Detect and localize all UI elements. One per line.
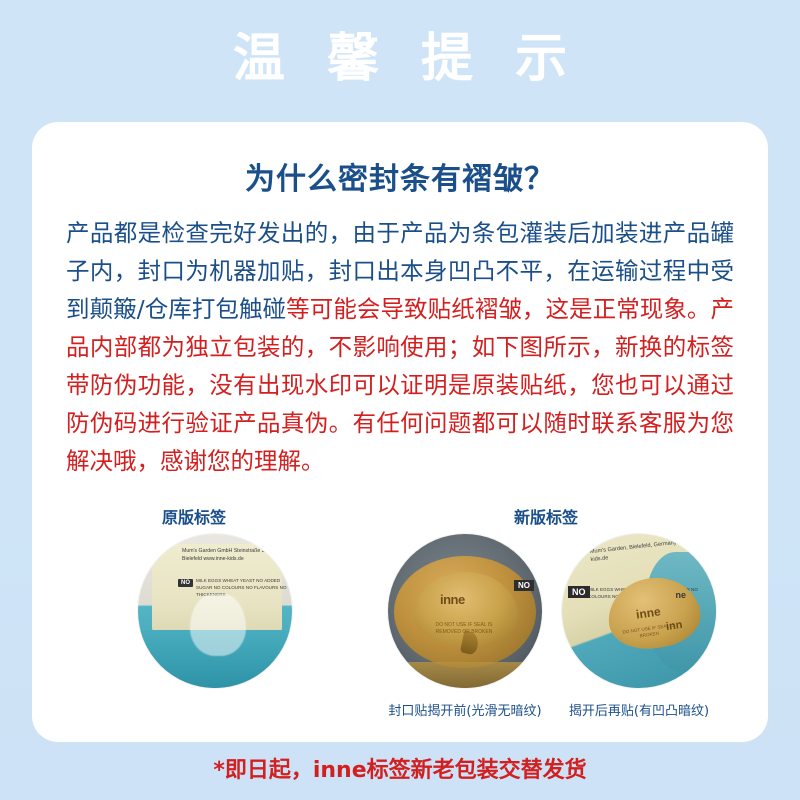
info-card: 为什么密封条有褶皱？ 产品都是检查完好发出的，由于产品为条包灌装后加装进产品罐子…	[32, 122, 768, 742]
photo-after-ne-text: ne	[675, 590, 686, 600]
photo-old-brand-text: Mum's Garden GmbH Steinstraße 21 86167 B…	[182, 548, 292, 564]
photo-seal-no-badge: NO	[514, 580, 534, 591]
card-body: 产品都是检查完好发出的，由于产品为条包灌装后加装进产品罐子内，封口为机器加贴，封…	[58, 214, 742, 480]
label-old-version: 原版标签	[162, 504, 226, 528]
footer-note: *即日起，inne标签新老包装交替发货	[0, 752, 800, 784]
card-title: 为什么密封条有褶皱？	[58, 154, 742, 198]
label-new-version: 新版标签	[514, 504, 578, 528]
photo-old-plastic-film	[190, 594, 246, 656]
photo-comparison: 原版标签 新版标签 Mum's Garden GmbH Steinstraße …	[58, 504, 742, 734]
photo-seal-brand: inne	[440, 592, 465, 607]
caption-seal-after: 揭开后再贴(有凹凸暗纹)	[539, 700, 739, 719]
page-title: 温 馨 提 示	[0, 30, 800, 90]
promo-page: 温 馨 提 示 为什么密封条有褶皱？ 产品都是检查完好发出的，由于产品为条包灌装…	[0, 0, 800, 800]
photo-seal-jar-band	[388, 662, 542, 688]
photo-after-brand-secondary: inn	[665, 619, 683, 633]
photo-after-no-badge: NO	[568, 586, 590, 598]
page-header: 温 馨 提 示	[0, 0, 800, 90]
caption-seal-before: 封口贴揭开前(光滑无暗纹)	[365, 700, 565, 719]
photo-seal-after: Mum's Garden, Bielefeld, Germany www.inn…	[562, 534, 716, 688]
photo-seal-warning-text: DO NOT USE IF SEAL IS REMOVED OR BROKEN	[428, 622, 500, 637]
photo-old-no-badge: NO	[178, 579, 193, 587]
photo-old-label: Mum's Garden GmbH Steinstraße 21 86167 B…	[138, 534, 292, 688]
photo-seal-before: inne DO NOT USE IF SEAL IS REMOVED OR BR…	[388, 534, 542, 688]
